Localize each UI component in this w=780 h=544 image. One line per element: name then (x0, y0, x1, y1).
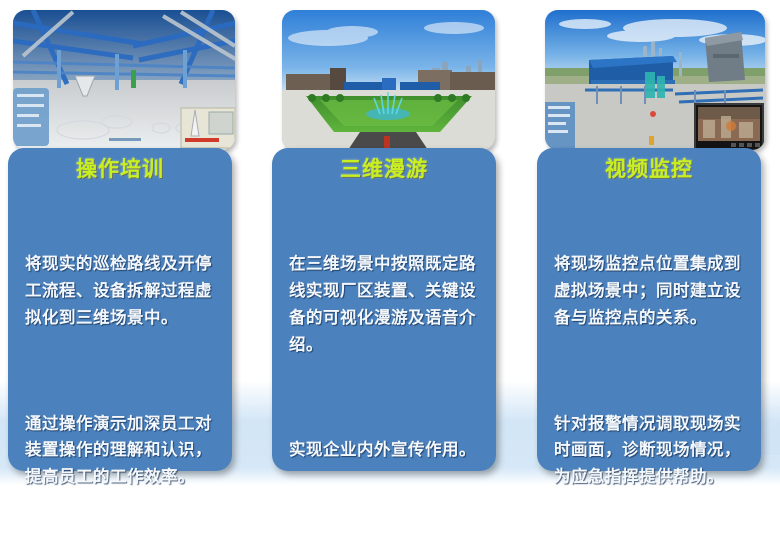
card-thumbnail-video-surveillance[interactable] (545, 10, 765, 150)
3d-plant-video-monitor-image (545, 10, 765, 150)
feature-card-video-surveillance[interactable]: 视频监控 将现场监控点位置集成到虚拟场景中；同时建立设备与监控点的关系。 针对报… (537, 148, 761, 471)
card-paragraph: 将现实的巡检路线及开停工流程、设备拆解过程虚拟化到三维场景中。 (25, 251, 218, 331)
card-thumbnail-three-dimensional-roaming[interactable] (282, 10, 495, 150)
card-paragraph: 针对报警情况调取现场实时画面，诊断现场情况，为应急指挥提供帮助。 (554, 411, 747, 491)
card-paragraph: 在三维场景中按照既定路线实现厂区装置、关键设备的可视化漫游及语音介绍。 (289, 251, 482, 358)
card-title-three-dimensional-roaming: 三维漫游 (272, 158, 496, 181)
3d-plant-exterior-image (282, 10, 495, 150)
feature-card-operation-training[interactable]: 操作培训 将现实的巡检路线及开停工流程、设备拆解过程虚拟化到三维场景中。 通过操… (8, 148, 232, 471)
card-title-operation-training: 操作培训 (8, 158, 232, 181)
card-body-three-dimensional-roaming: 在三维场景中按照既定路线实现厂区装置、关键设备的可视化漫游及语音介绍。 实现企业… (289, 198, 482, 517)
card-paragraph: 实现企业内外宣传作用。 (289, 437, 482, 464)
card-body-operation-training: 将现实的巡检路线及开停工流程、设备拆解过程虚拟化到三维场景中。 通过操作演示加深… (25, 198, 218, 544)
feature-card-group: 操作培训 将现实的巡检路线及开停工流程、设备拆解过程虚拟化到三维场景中。 通过操… (0, 0, 780, 491)
card-thumbnail-operation-training[interactable] (13, 10, 235, 150)
card-body-video-surveillance: 将现场监控点位置集成到虚拟场景中；同时建立设备与监控点的关系。 针对报警情况调取… (554, 198, 747, 544)
card-title-video-surveillance: 视频监控 (537, 158, 761, 181)
page-root: 操作培训 将现实的巡检路线及开停工流程、设备拆解过程虚拟化到三维场景中。 通过操… (0, 0, 780, 491)
3d-plant-interior-image (13, 10, 235, 150)
video-monitor-overlay (695, 104, 763, 150)
card-paragraph: 通过操作演示加深员工对装置操作的理解和认识，提高员工的工作效率。 (25, 411, 218, 491)
card-paragraph: 将现场监控点位置集成到虚拟场景中；同时建立设备与监控点的关系。 (554, 251, 747, 331)
feature-card-three-dimensional-roaming[interactable]: 三维漫游 在三维场景中按照既定路线实现厂区装置、关键设备的可视化漫游及语音介绍。… (272, 148, 496, 471)
